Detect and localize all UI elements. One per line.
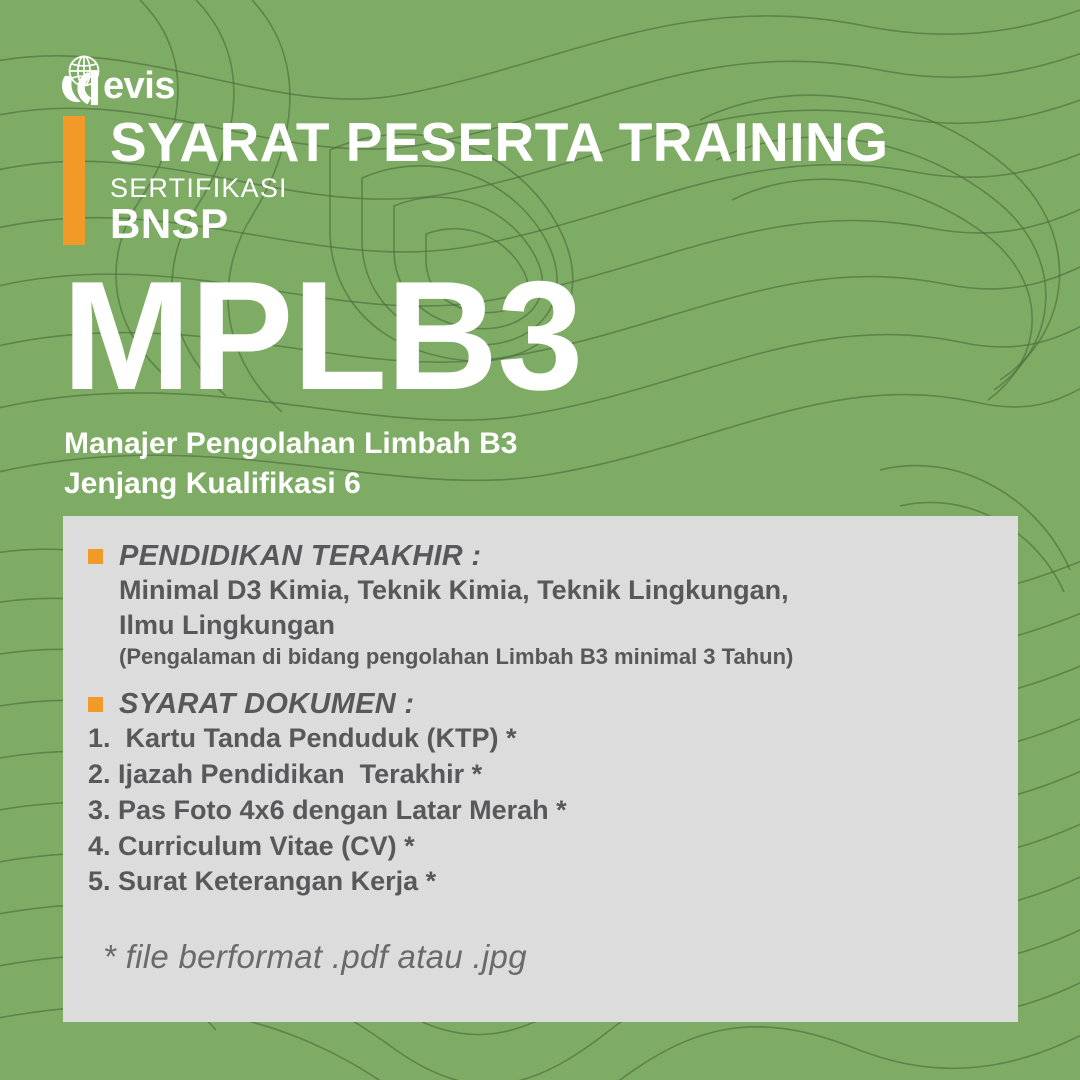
list-item: 5. Surat Keterangan Kerja *: [88, 864, 990, 900]
page-title: SYARAT PESERTA TRAINING: [110, 116, 889, 169]
square-bullet-icon: [88, 549, 103, 564]
section-heading-documents: SYARAT DOKUMEN :: [119, 688, 414, 721]
list-item: 2. Ijazah Pendidikan Terakhir *: [88, 757, 990, 793]
list-item: 4. Curriculum Vitae (CV) *: [88, 829, 990, 865]
section-syarat-dokumen: SYARAT DOKUMEN : 1. Kartu Tanda Penduduk…: [88, 688, 990, 901]
list-item: 3. Pas Foto 4x6 dengan Latar Merah *: [88, 793, 990, 829]
header-subtitle-bnsp: BNSP: [110, 203, 889, 245]
education-experience-note: (Pengalaman di bidang pengolahan Limbah …: [119, 643, 990, 672]
document-requirements-list: 1. Kartu Tanda Penduduk (KTP) * 2. Ijaza…: [88, 721, 990, 901]
program-name-line-2: Jenjang Kualifikasi 6: [64, 464, 517, 504]
program-name-line-1: Manajer Pengolahan Limbah B3: [64, 424, 517, 464]
section-pendidikan-terakhir: PENDIDIKAN TERAKHIR : Minimal D3 Kimia, …: [88, 540, 990, 672]
program-name: Manajer Pengolahan Limbah B3 Jenjang Kua…: [64, 424, 517, 504]
education-line-1: Minimal D3 Kimia, Teknik Kimia, Teknik L…: [119, 573, 990, 607]
brand-logo-text: evis: [103, 67, 175, 105]
program-acronym: MPLB3: [62, 258, 582, 413]
section-heading-education: PENDIDIKAN TERAKHIR :: [119, 540, 481, 573]
education-line-2: Ilmu Lingkungan: [119, 608, 990, 642]
file-format-footnote: * file berformat .pdf atau .jpg: [103, 938, 527, 976]
orange-accent-bar: [63, 116, 85, 245]
header-block: SYARAT PESERTA TRAINING SERTIFIKASI BNSP: [63, 116, 889, 245]
poster-canvas: evis SYARAT PESERTA TRAINING SERTIFIKASI…: [0, 0, 1080, 1080]
list-item: 1. Kartu Tanda Penduduk (KTP) *: [88, 721, 990, 757]
square-bullet-icon: [88, 697, 103, 712]
brand-logo: evis: [58, 54, 175, 108]
